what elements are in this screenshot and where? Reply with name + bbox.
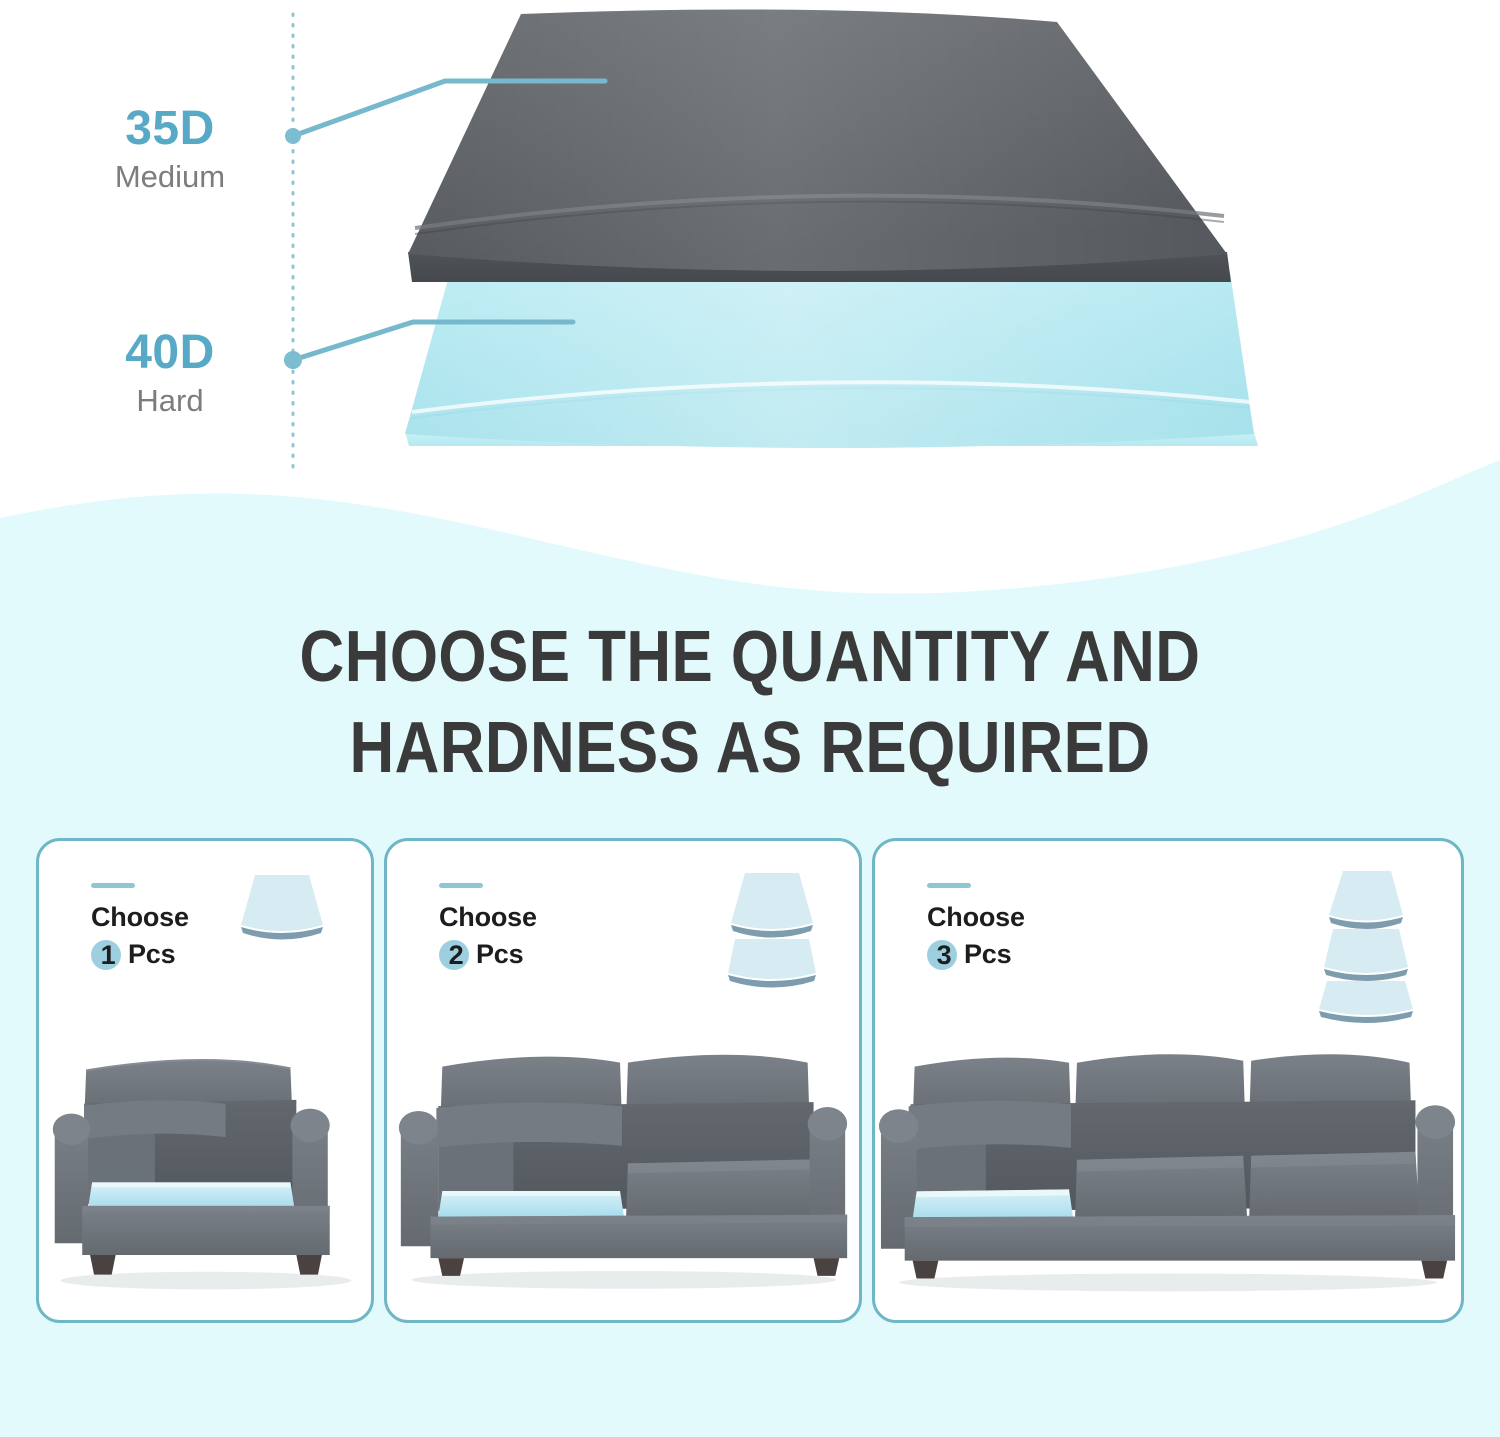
card-3-quantity-value: 3 [937, 940, 952, 970]
cushion-3 [1319, 981, 1413, 1023]
density-hardness-40d: Hard [65, 382, 275, 421]
cushion-1 [731, 873, 813, 938]
page-title-line-1: CHOOSE THE QUANTITY AND [105, 612, 1395, 703]
foam-layer-35d [408, 10, 1231, 283]
option-card-1-pcs[interactable]: Choose 1 Pcs [36, 838, 374, 1323]
card-2-header: Choose 2 Pcs [387, 841, 859, 1026]
infographic-page: 35D Medium 40D Hard CHOOSE THE QUANTITY … [0, 0, 1500, 1437]
accent-dash-icon [927, 883, 971, 888]
foam-layer-40d [405, 272, 1258, 448]
density-value-35d: 35D [65, 104, 275, 154]
card-3-quantity-badge: 3 [927, 938, 961, 972]
foam-stack-1-icon [219, 867, 345, 967]
cushion-2 [728, 939, 816, 988]
armchair-illustration [39, 1035, 371, 1302]
density-hardness-35d: Medium [65, 158, 275, 197]
card-1-quantity-badge: 1 [91, 938, 125, 972]
foam-stack-2-icon [709, 867, 835, 1007]
accent-dash-icon [91, 883, 135, 888]
cushion-1 [1329, 871, 1403, 929]
card-1-unit-label: Pcs [128, 936, 175, 973]
card-2-choose-block: Choose 2 Pcs [439, 899, 537, 974]
card-1-quantity-line: 1 Pcs [91, 936, 189, 973]
cushion-1 [241, 875, 323, 940]
card-2-quantity-line: 2 Pcs [439, 936, 537, 973]
option-card-2-pcs[interactable]: Choose 2 Pcs [384, 838, 862, 1323]
card-2-unit-label: Pcs [476, 936, 523, 973]
card-3-header: Choose 3 Pcs [875, 841, 1461, 1026]
card-1-header: Choose 1 Pcs [39, 841, 371, 1026]
sofa-illustration [875, 1033, 1461, 1302]
loveseat-illustration [387, 1033, 859, 1302]
card-2-quantity-value: 2 [449, 940, 464, 970]
option-card-3-pcs[interactable]: Choose 3 Pcs [872, 838, 1464, 1323]
accent-dash-icon [439, 883, 483, 888]
card-3-unit-label: Pcs [964, 936, 1011, 973]
page-title: CHOOSE THE QUANTITY AND HARDNESS AS REQU… [105, 612, 1395, 793]
page-title-line-2: HARDNESS AS REQUIRED [105, 703, 1395, 794]
card-2-choose-label: Choose [439, 899, 537, 936]
density-label-35d: 35D Medium [65, 104, 275, 197]
cushion-2 [1324, 929, 1408, 981]
density-label-40d: 40D Hard [65, 328, 275, 421]
quantity-options-row: Choose 1 Pcs [0, 838, 1500, 1328]
card-1-choose-label: Choose [91, 899, 189, 936]
card-2-quantity-badge: 2 [439, 938, 473, 972]
card-3-choose-block: Choose 3 Pcs [927, 899, 1025, 974]
card-1-quantity-value: 1 [101, 940, 116, 970]
card-1-choose-block: Choose 1 Pcs [91, 899, 189, 974]
foam-stack-3-icon [1303, 867, 1429, 1035]
card-3-quantity-line: 3 Pcs [927, 936, 1025, 973]
foam-layer-diagram [0, 0, 1500, 520]
density-value-40d: 40D [65, 328, 275, 378]
card-3-choose-label: Choose [927, 899, 1025, 936]
